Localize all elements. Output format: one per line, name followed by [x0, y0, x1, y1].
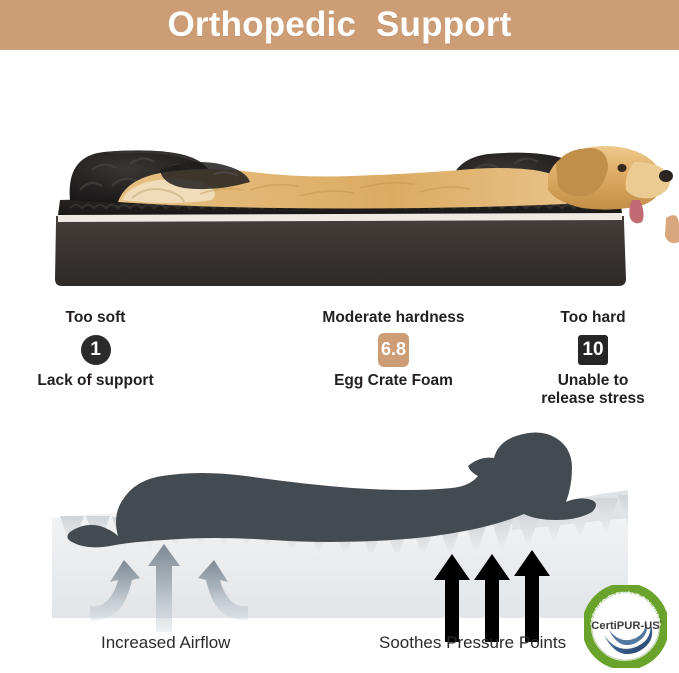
product-photo: [0, 50, 679, 300]
caption-increased-airflow: Increased Airflow: [101, 633, 230, 653]
page-title: Orthopedic Support: [167, 5, 511, 45]
product-infographic: Orthopedic Support: [0, 0, 679, 668]
certipur-us-logo: CONTAINS CERTIFIED FLEXIBLE POLYURETHANE…: [584, 585, 667, 668]
dog-on-bed-photo-illustration: [0, 50, 679, 300]
hand: [665, 215, 679, 243]
hardness-stop-too-hard: Too hard 10 Unable to release stress: [520, 309, 666, 408]
hardness-stop-bottom-label: Lack of support: [18, 372, 173, 390]
hardness-scale: Too soft 1 Lack of support Moderate hard…: [0, 300, 679, 410]
header-banner: Orthopedic Support: [0, 0, 679, 50]
caption-soothes-pressure-points: Soothes Pressure Points: [379, 633, 566, 653]
bed-front-panel: [56, 216, 624, 268]
foam-cross-section-diagram: [0, 410, 679, 668]
certipur-logo-svg: CONTAINS CERTIFIED FLEXIBLE POLYURETHANE…: [584, 585, 667, 668]
logo-brand-text: CertiPUR-US: [591, 620, 660, 632]
hardness-badge-6-8: 6.8: [378, 333, 409, 367]
hardness-badge-10: 10: [578, 335, 608, 365]
hardness-stop-bottom-label-line2: release stress: [520, 390, 666, 408]
hardness-stop-top-label: Moderate hardness: [306, 309, 481, 327]
hardness-stop-too-soft: Too soft 1 Lack of support: [18, 309, 173, 390]
pressure-arrows: [434, 550, 550, 642]
dog-eye: [618, 164, 627, 172]
hardness-stop-top-label: Too hard: [520, 309, 666, 327]
hardness-stop-bottom-label-line1: Unable to: [520, 372, 666, 390]
hardness-stop-bottom-label: Egg Crate Foam: [306, 372, 481, 390]
hardness-stop-top-label: Too soft: [18, 309, 173, 327]
foam-diagram-svg: [0, 410, 679, 668]
hardness-badge-1: 1: [81, 335, 111, 365]
hardness-stop-moderate: Moderate hardness 6.8 Egg Crate Foam: [306, 309, 481, 390]
logo-trademark-symbol: ®: [660, 620, 663, 624]
dog-nose: [659, 170, 673, 182]
